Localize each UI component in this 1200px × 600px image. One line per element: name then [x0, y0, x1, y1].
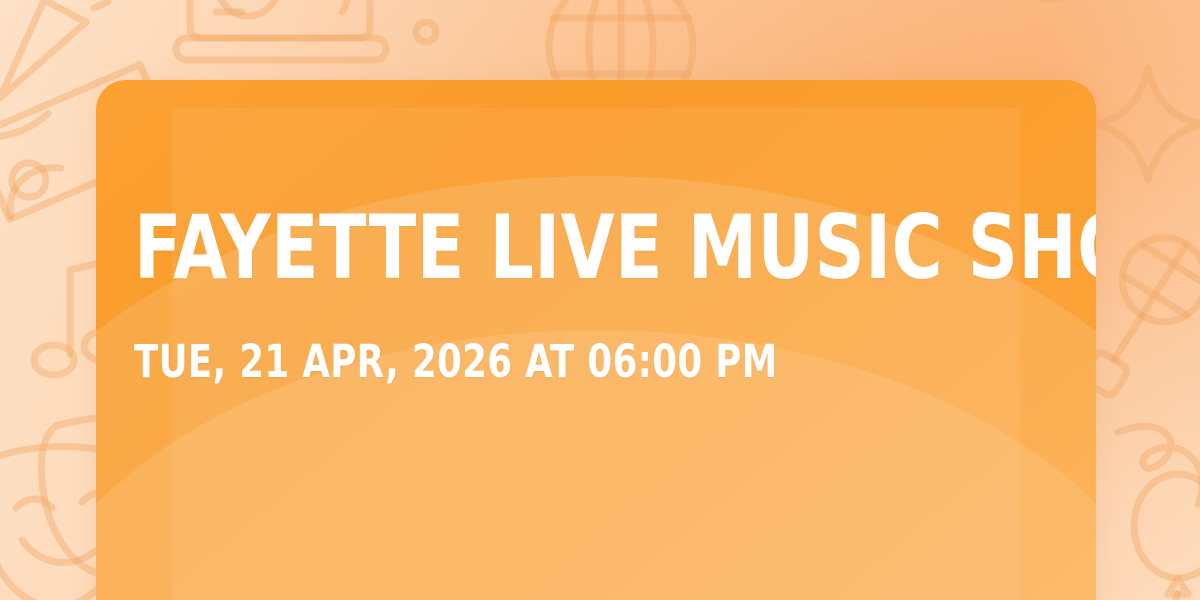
event-banner: FAYETTE LIVE MUSIC SHOWCASE TUE, 21 APR,… — [0, 0, 1200, 600]
event-datetime: TUE, 21 APR, 2026 AT 06:00 PM — [134, 338, 778, 386]
card-text-block: FAYETTE LIVE MUSIC SHOWCASE TUE, 21 APR,… — [134, 80, 1058, 600]
page-title: FAYETTE LIVE MUSIC SHOWCASE — [134, 202, 1096, 294]
event-card: FAYETTE LIVE MUSIC SHOWCASE TUE, 21 APR,… — [96, 80, 1096, 600]
